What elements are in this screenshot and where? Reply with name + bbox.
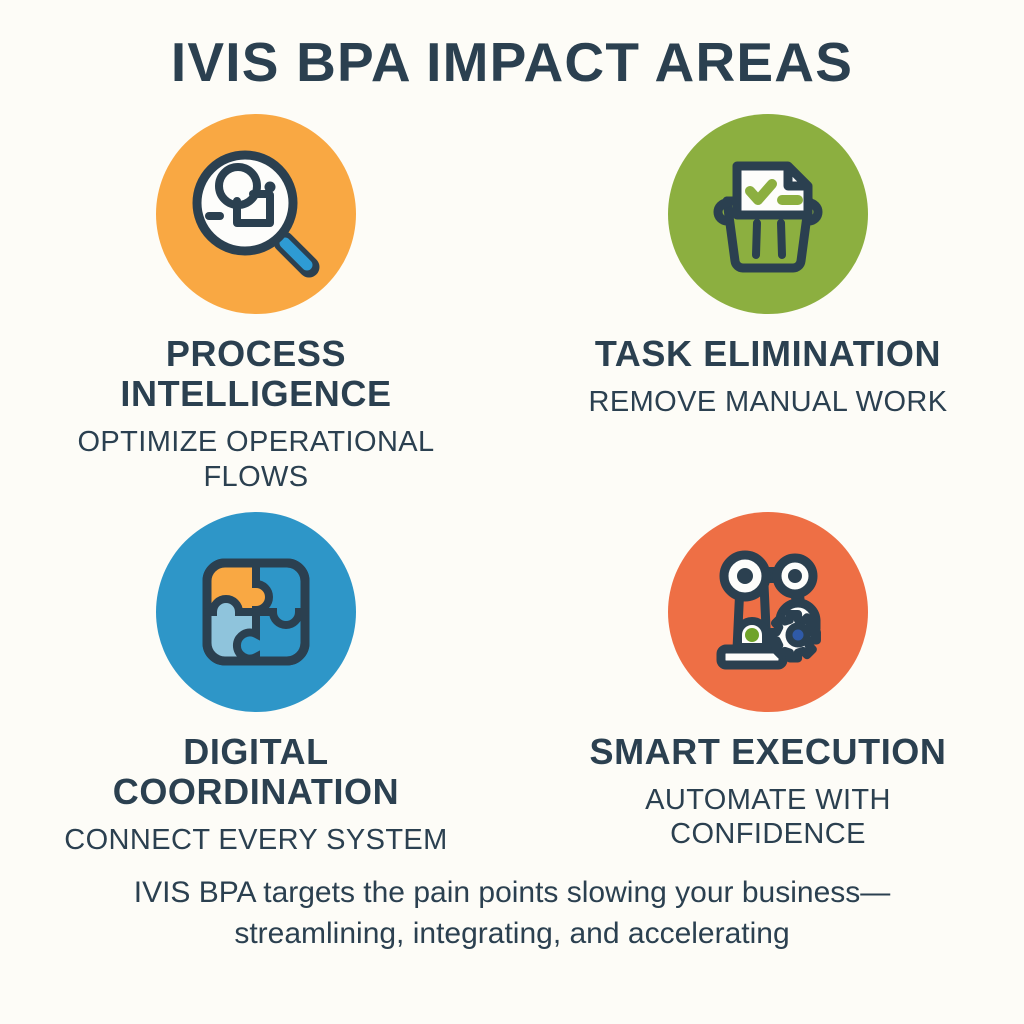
impact-card-task-elimination[interactable]: TASK ELIMINATION REMOVE MANUAL WORK	[512, 114, 1024, 494]
card-subtitle: OPTIMIZE OPERATIONAL FLOWS	[41, 425, 471, 493]
footer-description: IVIS BPA targets the pain points slowing…	[122, 872, 902, 955]
card-title: PROCESS INTELLIGENCE	[41, 334, 471, 415]
impact-card-process-intelligence[interactable]: PROCESS INTELLIGENCE OPTIMIZE OPERATIONA…	[0, 114, 512, 494]
card-subtitle: REMOVE MANUAL WORK	[589, 385, 948, 419]
card-title: SMART EXECUTION	[589, 732, 946, 772]
robot-arm-gear-icon	[693, 537, 843, 687]
icon-circle-digital-coordination	[156, 512, 356, 712]
page-title: IVIS BPA IMPACT AREAS	[0, 34, 1024, 92]
magnifying-glass-process-icon	[181, 139, 331, 289]
impact-card-digital-coordination[interactable]: DIGITAL COORDINATION CONNECT EVERY SYSTE…	[0, 512, 512, 858]
card-title: TASK ELIMINATION	[595, 334, 941, 374]
puzzle-pieces-icon	[181, 537, 331, 687]
trash-bin-document-icon	[693, 139, 843, 289]
icon-circle-task-elimination	[668, 114, 868, 314]
infographic-root: IVIS BPA IMPACT AREAS	[0, 0, 1024, 1024]
card-subtitle: CONNECT EVERY SYSTEM	[64, 823, 448, 857]
impact-areas-grid: PROCESS INTELLIGENCE OPTIMIZE OPERATIONA…	[0, 114, 1024, 858]
impact-card-smart-execution[interactable]: SMART EXECUTION AUTOMATE WITH CONFIDENCE	[512, 512, 1024, 858]
title-section: IVIS BPA IMPACT AREAS	[0, 0, 1024, 92]
icon-circle-process-intelligence	[156, 114, 356, 314]
icon-circle-smart-execution	[668, 512, 868, 712]
card-title: DIGITAL COORDINATION	[41, 732, 471, 813]
card-subtitle: AUTOMATE WITH CONFIDENCE	[553, 783, 983, 851]
